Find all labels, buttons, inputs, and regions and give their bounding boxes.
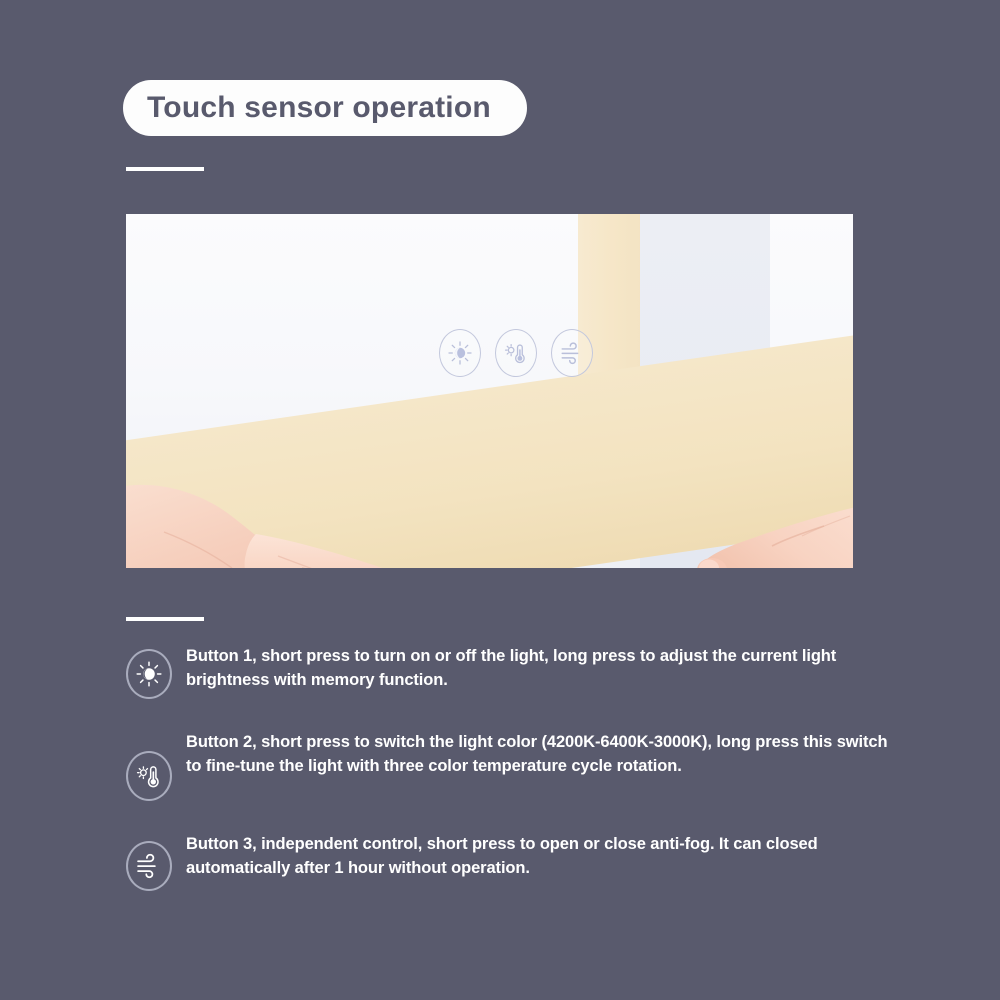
- touch-sensor-button-row: [439, 329, 593, 377]
- legend-item-text: Button 2, short press to switch the ligh…: [186, 729, 896, 779]
- legend-item-text: Button 3, independent control, short pre…: [186, 831, 896, 881]
- wind-icon: [559, 340, 585, 366]
- touch-button-brightness[interactable]: [439, 329, 481, 377]
- left-hand-pointing: [126, 472, 526, 568]
- sun-icon: [447, 340, 473, 366]
- list-item: Button 1, short press to turn on or off …: [126, 643, 896, 699]
- sun-icon: [135, 660, 163, 688]
- legend-icon-anti-fog: [126, 841, 172, 891]
- list-item: Button 3, independent control, short pre…: [126, 831, 896, 891]
- touch-button-color-temperature[interactable]: [495, 329, 537, 377]
- legend-item-text: Button 1, short press to turn on or off …: [186, 643, 896, 693]
- thermometer-sun-icon: [503, 340, 529, 366]
- divider-bottom: [126, 617, 204, 621]
- divider-top: [126, 167, 204, 171]
- list-item: Button 2, short press to switch the ligh…: [126, 729, 896, 801]
- touch-button-anti-fog[interactable]: [551, 329, 593, 377]
- wind-icon: [135, 852, 163, 880]
- product-photo: [126, 214, 853, 568]
- legend-list: Button 1, short press to turn on or off …: [126, 643, 896, 891]
- legend-icon-brightness: [126, 649, 172, 699]
- thermometer-sun-icon: [135, 762, 163, 790]
- legend-icon-color-temperature: [126, 751, 172, 801]
- page-title: Touch sensor operation: [147, 91, 491, 125]
- right-hand-pointing: [674, 464, 853, 568]
- page-title-pill: Touch sensor operation: [123, 80, 527, 136]
